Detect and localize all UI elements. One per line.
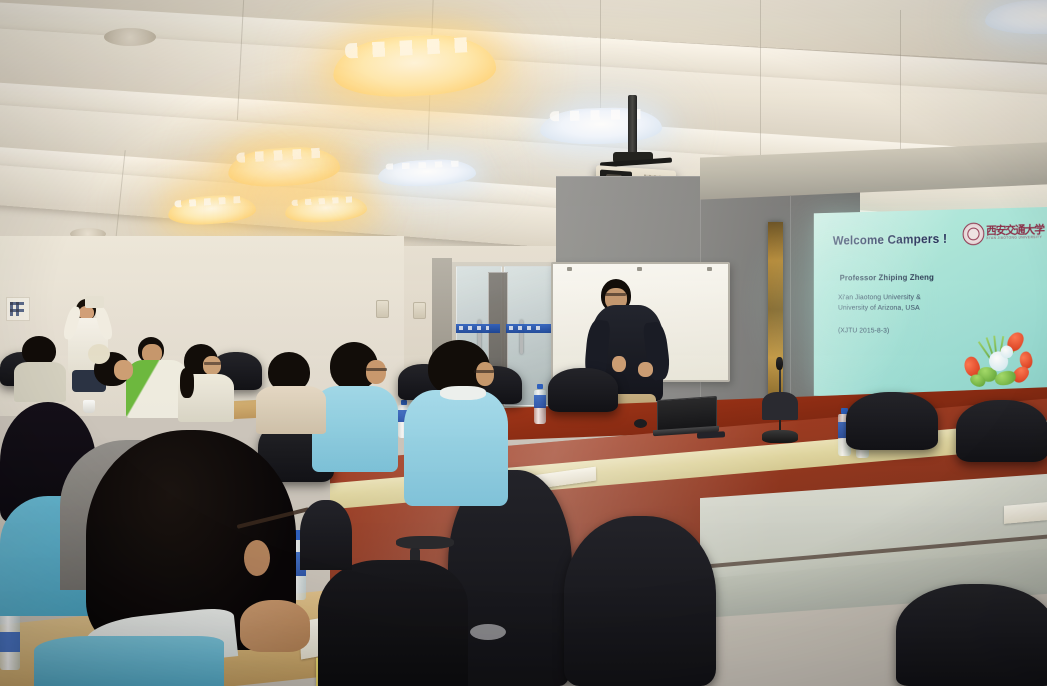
office-chair-foreground[interactable]: [564, 516, 716, 686]
audience-hair-tail: [180, 368, 194, 398]
audience-person-far-right: [762, 392, 798, 420]
audience-torso: [14, 362, 66, 402]
handout-papers[interactable]: [1004, 502, 1047, 524]
audience-face: [114, 360, 133, 380]
student-face: [366, 360, 386, 384]
presenter-hand-left: [612, 356, 626, 372]
student-face: [476, 362, 494, 386]
floral-decoration-icon: [959, 322, 1041, 392]
presentation-slide: Welcome Campers ! Professor Zhiping Zhen…: [814, 207, 1047, 402]
audience-person-right: [300, 500, 352, 570]
slide-affiliation-line2: University of Arizona, USA: [838, 302, 921, 313]
chair-base: [396, 536, 454, 549]
computer-mouse[interactable]: [634, 419, 647, 428]
audience-face: [203, 356, 221, 375]
slide-affiliation-line1: Xi'an Jiaotong University &: [838, 291, 921, 302]
student-glasses-icon: [474, 370, 494, 373]
wall-plate: [413, 302, 426, 319]
office-chair[interactable]: [956, 400, 1047, 462]
student-collar: [440, 386, 486, 400]
qr-code-icon: [10, 302, 24, 316]
audience-hair-bun: [88, 344, 110, 364]
wall-sign: [6, 297, 30, 321]
university-logo: 西安交通大学 XI'AN JIAOTONG UNIVERSITY: [963, 221, 1034, 244]
chair-base: [470, 624, 506, 640]
door-sign-band: [506, 324, 552, 333]
paper-cup[interactable]: [83, 400, 95, 413]
foreground-student-hand-fill: [240, 600, 310, 652]
lecture-room-photo: Welcome Campers ! Professor Zhiping Zhen…: [0, 0, 1047, 686]
bottle-label-partial: [0, 632, 20, 652]
student-glasses-icon: [366, 368, 387, 371]
office-chair[interactable]: [548, 368, 618, 412]
projector-pole: [628, 95, 637, 157]
slide-affiliation: Xi'an Jiaotong University & University o…: [838, 291, 921, 313]
water-bottle[interactable]: [534, 384, 546, 424]
slide-presenter-name: Professor Zhiping Zheng: [840, 272, 934, 282]
door-sign-band: [456, 324, 500, 333]
office-chair-foreground[interactable]: [896, 584, 1047, 686]
photographer-phone: [85, 296, 104, 308]
presenter-hand-right: [638, 362, 653, 377]
foreground-person-dark: [318, 560, 468, 686]
wall-plate: [376, 300, 389, 318]
presenter-glasses-icon: [605, 293, 626, 296]
microphone-base[interactable]: [762, 430, 798, 443]
office-chair[interactable]: [846, 392, 938, 450]
slide-title: Welcome Campers !: [833, 231, 947, 248]
projection-screen: Welcome Campers ! Professor Zhiping Zhen…: [814, 207, 1047, 402]
student-torso-blue-polo: [404, 390, 508, 506]
audience-glasses-icon: [204, 362, 221, 365]
slide-date: (XJTU 2015-8-3): [838, 326, 889, 335]
university-seal-icon: [963, 222, 985, 245]
foreground-student-ear: [244, 540, 270, 576]
university-name-en: XI'AN JIAOTONG UNIVERSITY: [986, 235, 1042, 240]
student-torso: [256, 386, 326, 434]
foreground-student-polo: [34, 636, 224, 686]
microphone-head: [776, 357, 783, 370]
